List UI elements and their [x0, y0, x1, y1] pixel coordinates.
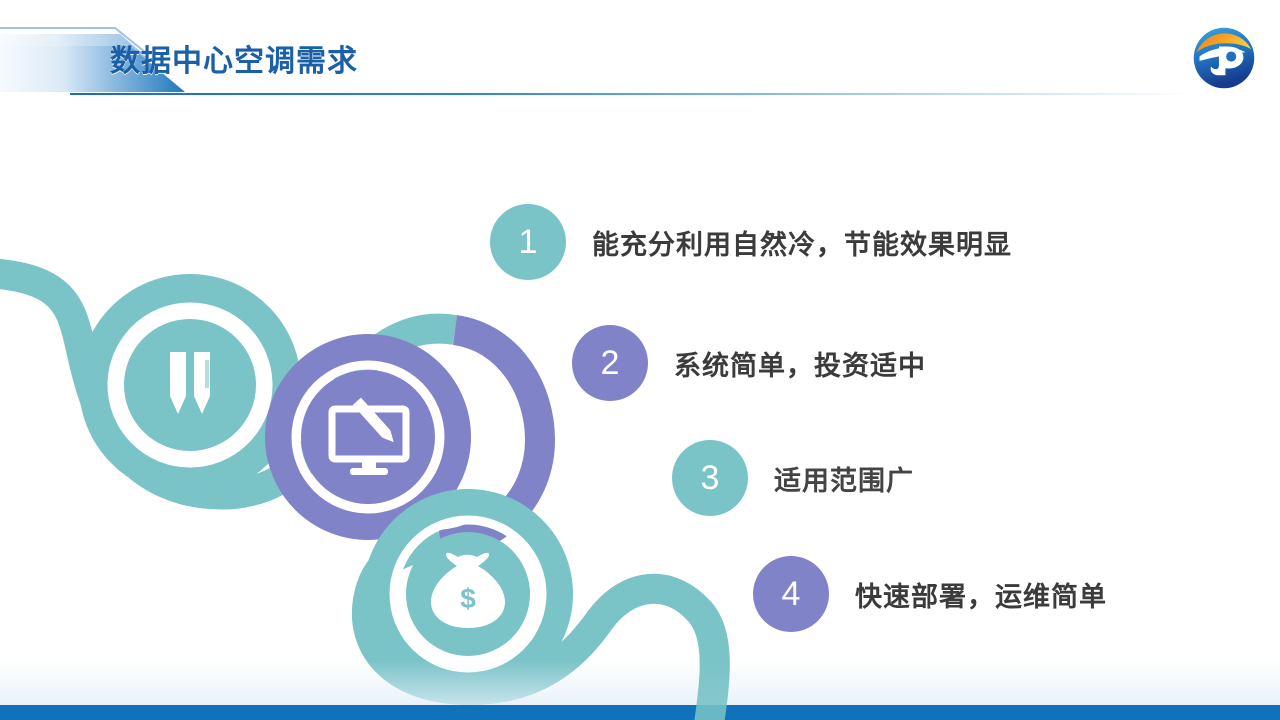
- point-number-badge: 2: [572, 325, 648, 401]
- point-label: 适用范围广: [774, 459, 914, 498]
- point-label: 能充分利用自然冷，节能效果明显: [592, 223, 1012, 262]
- point-number-badge: 1: [490, 204, 566, 280]
- list-item[interactable]: 2 系统简单，投资适中: [572, 325, 926, 401]
- point-label: 系统简单，投资适中: [674, 344, 926, 383]
- slide: $ 数据: [0, 0, 1280, 720]
- list-item[interactable]: 3 适用范围广: [672, 440, 914, 516]
- list-item[interactable]: 1 能充分利用自然冷，节能效果明显: [490, 204, 1012, 280]
- point-label: 快速部署，运维简单: [855, 575, 1107, 614]
- list-item[interactable]: 4 快速部署，运维简单: [753, 556, 1107, 632]
- point-number-badge: 3: [672, 440, 748, 516]
- point-number-badge: 4: [753, 556, 829, 632]
- points-list: 1 能充分利用自然冷，节能效果明显 2 系统简单，投资适中 3 适用范围广 4 …: [0, 0, 1280, 720]
